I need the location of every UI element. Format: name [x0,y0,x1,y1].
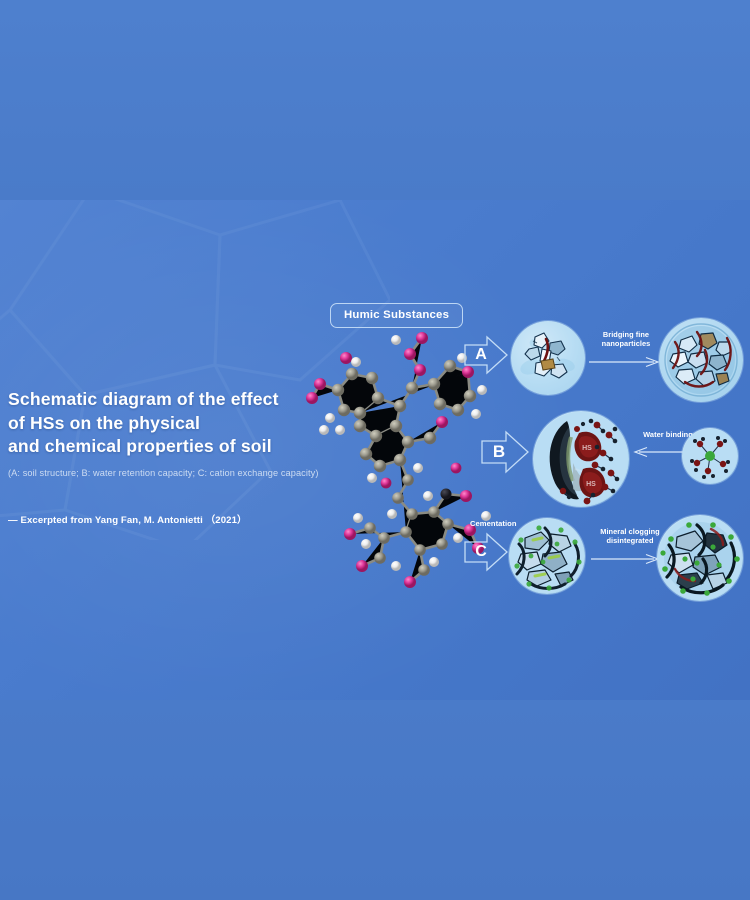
row-a-arrow-right-icon [588,355,662,369]
title-line-2: of HSs on the physical [8,412,338,436]
screenshot-canvas: Schematic diagram of the effect of HSs o… [0,0,750,900]
outer-background-top-band [0,0,750,200]
svg-text:HS: HS [586,481,596,488]
outer-background-bottom-band [0,700,750,900]
text-block: Schematic diagram of the effect of HSs o… [8,388,338,526]
row-b-right-circle [682,428,738,484]
row-c-left-circle [509,518,585,594]
row-b-arrow-left-icon [633,445,689,459]
page-title: Schematic diagram of the effect of HSs o… [8,388,338,459]
title-line-1: Schematic diagram of the effect [8,388,338,412]
diagram-panel: Schematic diagram of the effect of HSs o… [0,200,750,700]
title-line-3: and chemical properties of soil [8,435,338,459]
row-b-left-circle: HS HS [533,411,629,507]
row-a-flow-label: Bridging fine nanoparticles [586,330,666,349]
citation-credit: — Excerpted from Yang Fan, M. Antonietti… [8,512,338,526]
row-c-pre-label: Cementation [470,519,517,528]
row-marker-a-letter: A [469,342,493,368]
row-a-left-circle [511,321,585,395]
row-c-right-circle [657,515,743,601]
row-marker-b-letter: B [486,438,512,466]
subtitle-legend: (A: soil structure; B: water retention c… [8,468,338,480]
row-a-right-circle [659,318,743,402]
svg-text:HS: HS [582,445,592,452]
row-marker-c-letter: C [469,539,493,565]
row-c-arrow-right-icon [590,552,662,566]
